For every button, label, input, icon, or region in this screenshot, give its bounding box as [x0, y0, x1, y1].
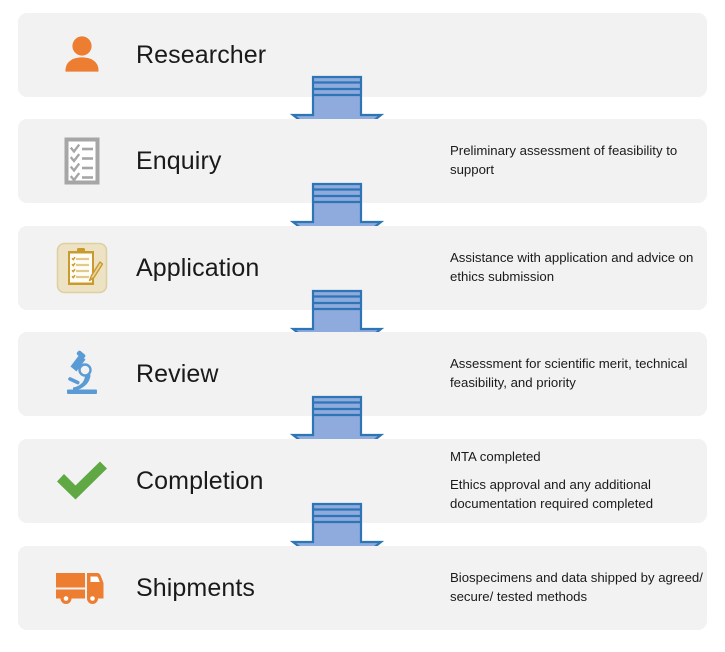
stage-title-review: Review	[136, 332, 219, 416]
stage-row-shipments: Shipments Biospecimens and data shipped …	[18, 546, 707, 630]
stage-desc-line: Biospecimens and data shipped by agreed/…	[450, 569, 716, 606]
checklist-icon	[40, 119, 124, 203]
stage-title-researcher: Researcher	[136, 13, 266, 97]
microscope-icon	[40, 332, 124, 416]
stage-title-shipments: Shipments	[136, 546, 255, 630]
stage-desc-line: Ethics approval and any additional docum…	[450, 476, 716, 513]
stage-desc-shipments: Biospecimens and data shipped by agreed/…	[450, 546, 716, 630]
stage-desc-completion: MTA completed Ethics approval and any ad…	[450, 439, 716, 523]
stage-desc-application: Assistance with application and advice o…	[450, 226, 716, 310]
workflow-diagram: Researcher	[0, 0, 725, 652]
delivery-truck-icon	[40, 546, 124, 630]
stage-title-application: Application	[136, 226, 259, 310]
stage-desc-enquiry: Preliminary assessment of feasibility to…	[450, 119, 716, 203]
stage-title-enquiry: Enquiry	[136, 119, 221, 203]
stage-title-completion: Completion	[136, 439, 263, 523]
clipboard-pencil-icon	[40, 226, 124, 310]
check-mark-icon	[40, 439, 124, 523]
stage-desc-line: Assistance with application and advice o…	[450, 249, 716, 286]
stage-desc-line: Assessment for scientific merit, technic…	[450, 355, 716, 392]
person-icon	[40, 13, 124, 97]
stage-desc-line: Preliminary assessment of feasibility to…	[450, 142, 716, 179]
stage-desc-line: MTA completed	[450, 448, 716, 467]
stage-desc-review: Assessment for scientific merit, technic…	[450, 332, 716, 416]
stage-desc-researcher	[450, 13, 716, 97]
